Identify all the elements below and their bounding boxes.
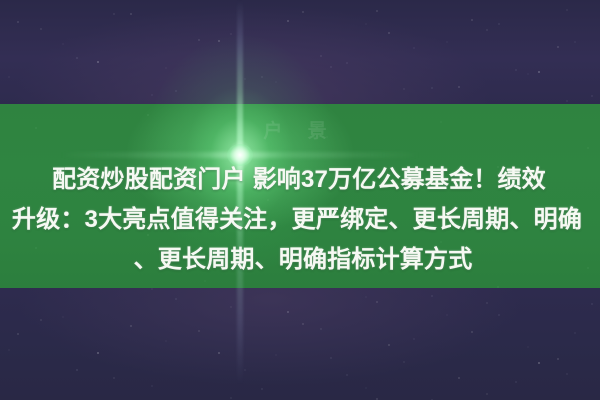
- headline-line-3: 、更长周期、明确指标计算方式: [6, 240, 600, 280]
- headline-text: 配资炒股配资门户 影响37万亿公募基金！绩效 升级：3大亮点值得关注，更严绑定、…: [0, 160, 600, 280]
- starfield-lower-region: [0, 288, 600, 400]
- headline-line-1: 配资炒股配资门户 影响37万亿公募基金！绩效: [0, 160, 600, 200]
- starfield-upper-region: [0, 0, 600, 106]
- headline-line-2: 升级：3大亮点值得关注，更严绑定、更长周期、明确: [0, 200, 600, 240]
- banner-image: 户 景 配资炒股配资门户 影响37万亿公募基金！绩效 升级：3大亮点值得关注，更…: [0, 0, 600, 400]
